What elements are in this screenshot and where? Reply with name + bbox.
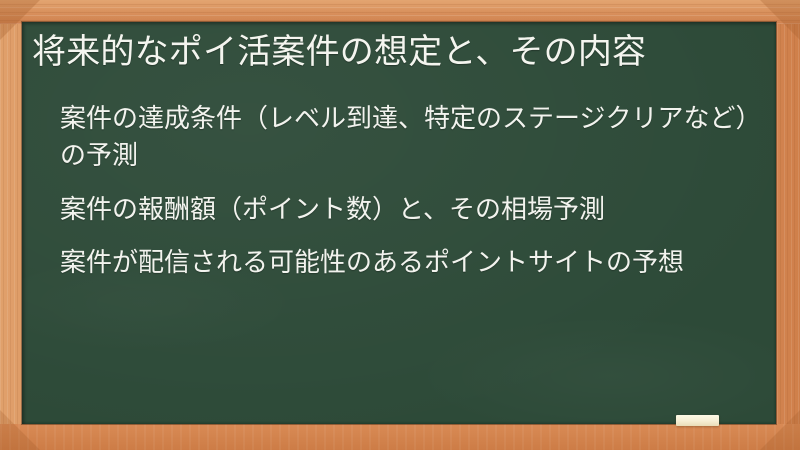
bullet-list: 案件の達成条件（レベル到達、特定のステージクリアなど）の予測 案件の報酬額（ポイ…: [32, 101, 758, 283]
bullet-item-3: 案件が配信される可能性のあるポイントサイトの予想: [60, 245, 750, 282]
bullet-item-1: 案件の達成条件（レベル到達、特定のステージクリアなど）の予測: [60, 101, 750, 176]
slide-title: 将来的なポイ活案件の想定と、その内容: [32, 30, 747, 75]
chalk-stick-icon: [676, 415, 719, 426]
frame-top-rail: [0, 0, 800, 24]
bullet-item-2: 案件の報酬額（ポイント数）と、その相場予測: [60, 192, 750, 229]
chalkboard-content: 将来的なポイ活案件の想定と、その内容 案件の達成条件（レベル到達、特定のステージ…: [22, 22, 776, 283]
chalkboard-surface: 将来的なポイ活案件の想定と、その内容 案件の達成条件（レベル到達、特定のステージ…: [22, 22, 776, 424]
chalkboard-slide: 将来的なポイ活案件の想定と、その内容 案件の達成条件（レベル到達、特定のステージ…: [0, 0, 800, 450]
frame-bottom-ledge: [0, 424, 800, 450]
